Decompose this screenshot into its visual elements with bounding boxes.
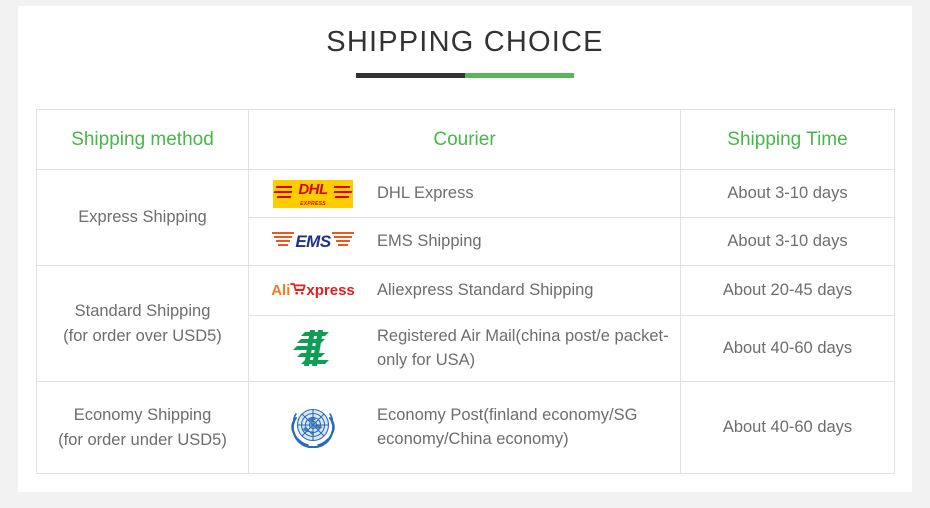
courier-cell-ems: EMS EMS Shipping [249,218,681,266]
ems-logo: EMS [272,228,354,256]
courier-cell-china-post: Registered Air Mail(china post/e packet-… [249,316,681,382]
ems-wordmark: EMS [272,232,354,252]
courier-name: Economy Post(finland economy/SG economy/… [377,404,680,452]
column-header-courier: Courier [249,110,681,170]
un-logo [285,401,341,455]
shipping-table: Shipping method Courier Shipping Time Ex… [36,109,895,474]
aliexpress-wordmark-xpress: xpress [306,283,354,298]
method-cell-express: Express Shipping [37,170,249,266]
aliexpress-wordmark-ali: Ali [271,283,290,298]
courier-name: Aliexpress Standard Shipping [377,279,603,303]
table-row: Economy Shipping (for order under USD5) [37,382,895,474]
method-note: (for order over USD5) [37,324,248,349]
courier-name: Registered Air Mail(china post/e packet-… [377,325,680,373]
aliexpress-logo-wrap: Ali xpress [249,281,377,299]
method-note: (for order under USD5) [37,428,248,453]
shipping-choice-card: SHIPPING CHOICE Shipping method Courier … [18,6,912,492]
method-name: Economy Shipping [37,403,248,428]
courier-cell-economy-post: Economy Post(finland economy/SG economy/… [249,382,681,474]
shopping-cart-icon [290,281,306,299]
shipping-time: About 40-60 days [681,316,895,382]
un-logo-wrap [249,401,377,455]
china-post-logo-wrap [249,328,377,370]
china-post-logo [291,328,335,370]
title-underline [356,73,574,78]
dhl-logo-wrap: DHL EXPRESS [249,180,377,208]
shipping-time: About 3-10 days [681,170,895,218]
method-cell-standard: Standard Shipping (for order over USD5) [37,266,249,382]
page-title: SHIPPING CHOICE [18,28,912,57]
shipping-time: About 20-45 days [681,266,895,316]
column-header-shipping-time: Shipping Time [681,110,895,170]
title-underline-dark [356,73,465,78]
dhl-wordmark: DHL [273,181,353,198]
shipping-time: About 3-10 days [681,218,895,266]
table-row: Standard Shipping (for order over USD5) … [37,266,895,316]
table-header-row: Shipping method Courier Shipping Time [37,110,895,170]
courier-cell-aliexpress: Ali xpress [249,266,681,316]
table-row: Express Shipping DHL [37,170,895,218]
courier-cell-dhl: DHL EXPRESS DHL Express [249,170,681,218]
page-header: SHIPPING CHOICE [18,6,912,78]
courier-name: DHL Express [377,182,484,206]
method-cell-economy: Economy Shipping (for order under USD5) [37,382,249,474]
courier-name: EMS Shipping [377,230,492,254]
column-header-shipping-method: Shipping method [37,110,249,170]
title-underline-green [465,73,574,78]
aliexpress-logo: Ali xpress [271,281,355,299]
dhl-logo: DHL EXPRESS [273,180,353,208]
method-name: Standard Shipping [37,299,248,324]
dhl-subwordmark: EXPRESS [273,201,353,207]
shipping-time: About 40-60 days [681,382,895,474]
ems-logo-wrap: EMS [249,228,377,256]
